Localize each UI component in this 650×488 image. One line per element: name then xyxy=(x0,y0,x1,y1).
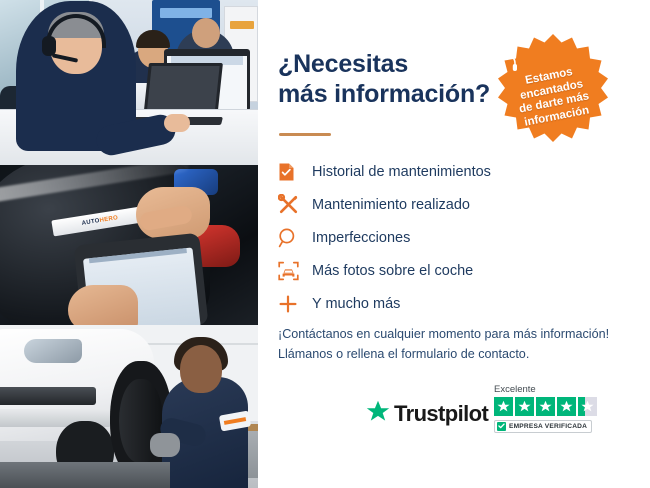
plus-icon xyxy=(278,294,312,314)
feature-list: Historial de mantenimientos Mantenimient… xyxy=(278,155,628,320)
support-badge: Estamos encantados de darte más informac… xyxy=(496,32,610,146)
feature-label: Mantenimiento realizado xyxy=(312,197,470,213)
photo-call-center-agent-headset xyxy=(0,0,258,165)
checklist-document-icon xyxy=(278,162,312,182)
feature-label: Historial de mantenimientos xyxy=(312,164,491,180)
magnifier-icon xyxy=(278,228,312,248)
tools-wrench-screwdriver-icon xyxy=(278,194,312,215)
feature-item: Mantenimiento realizado xyxy=(278,188,628,221)
trustpilot-logo[interactable]: Trustpilot xyxy=(366,400,488,428)
check-badge-icon xyxy=(497,422,506,431)
page-title-line-2: más información? xyxy=(278,80,490,108)
star-filled xyxy=(557,397,576,416)
contact-text: ¡Contáctanos en cualquier momento para m… xyxy=(278,324,638,365)
ruler-brand-suffix: HERO xyxy=(99,215,118,224)
star-partial xyxy=(578,397,597,416)
feature-item: Historial de mantenimientos xyxy=(278,155,628,188)
content-panel: ¿Necesitas más información? Estamos enca… xyxy=(258,0,650,488)
photo-mechanic-wheel-inspection xyxy=(0,325,258,488)
star-filled xyxy=(536,397,555,416)
feature-item: Más fotos sobre el coche xyxy=(278,254,628,287)
trustpilot-rating: Excelente xyxy=(494,384,614,434)
trustpilot-star-icon xyxy=(366,400,390,428)
feature-label: Más fotos sobre el coche xyxy=(312,263,473,279)
verified-business-label: EMPRESA VERIFICADA xyxy=(509,423,587,430)
page-title-line-1: ¿Necesitas xyxy=(278,50,408,78)
photo-column: AUTOHERO xyxy=(0,0,258,488)
rating-label: Excelente xyxy=(494,384,614,395)
photo-vehicle-inspection-ruler-tablet: AUTOHERO xyxy=(0,165,258,325)
trustpilot-logo-text: Trustpilot xyxy=(394,401,488,427)
feature-label: Y mucho más xyxy=(312,296,400,312)
car-photo-frame-icon xyxy=(278,261,312,281)
contact-line-2: Llámanos o rellena el formulario de cont… xyxy=(278,344,638,364)
star-filled xyxy=(515,397,534,416)
ruler-brand-prefix: AUTO xyxy=(81,218,100,227)
verified-business-badge: EMPRESA VERIFICADA xyxy=(494,420,592,433)
star-rating xyxy=(494,397,614,416)
contact-line-1: ¡Contáctanos en cualquier momento para m… xyxy=(278,324,638,344)
star-filled xyxy=(494,397,513,416)
title-divider xyxy=(279,133,331,136)
feature-label: Imperfecciones xyxy=(312,230,410,246)
feature-item: Imperfecciones xyxy=(278,221,628,254)
feature-item: Y mucho más xyxy=(278,287,628,320)
promo-card: AUTOHERO ¿Nece xyxy=(0,0,650,488)
